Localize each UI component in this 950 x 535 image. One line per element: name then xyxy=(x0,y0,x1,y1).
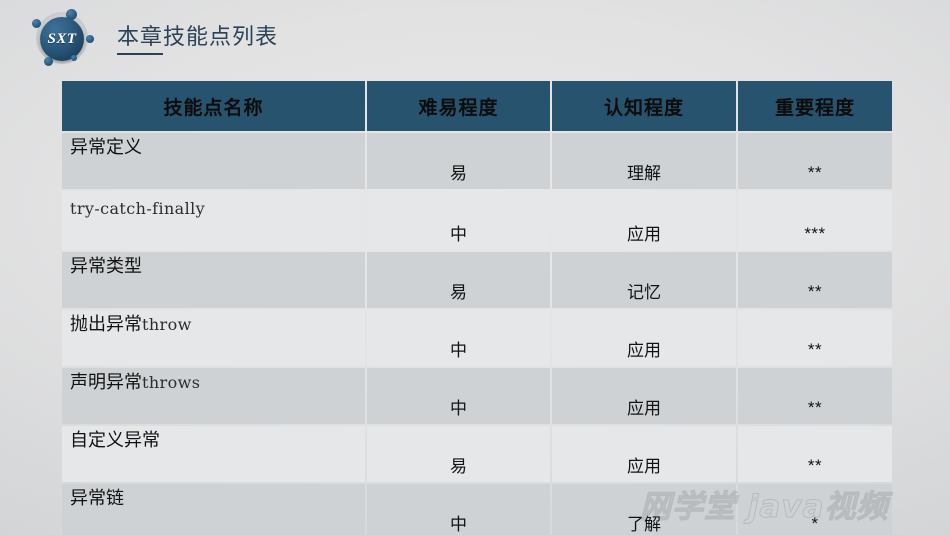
cell-skill-name: 异常定义 xyxy=(62,133,365,189)
cell-skill-name: 异常链 xyxy=(62,484,365,535)
cell-skill-name: 自定义异常 xyxy=(62,426,365,482)
table-body: 异常定义易理解**try-catch-finally中应用***异常类型易记忆*… xyxy=(62,133,892,535)
cell-cognition: 应用 xyxy=(552,191,736,250)
column-header-cognition: 认知程度 xyxy=(552,81,736,131)
cell-difficulty: 中 xyxy=(367,191,550,250)
table-row: 抛出异常throw中应用** xyxy=(62,310,892,366)
cell-importance: ** xyxy=(738,133,892,189)
skills-table-container: 技能点名称 难易程度 认知程度 重要程度 异常定义易理解**try-catch-… xyxy=(60,79,892,535)
column-header-skill-name: 技能点名称 xyxy=(62,81,365,131)
page-title-underlined-part: 本章 xyxy=(117,24,163,55)
cell-skill-name: 声明异常throws xyxy=(62,368,365,424)
skill-name-cjk: 抛出异常 xyxy=(70,314,142,334)
skill-name-cjk: 异常定义 xyxy=(70,137,142,157)
cell-importance: ** xyxy=(738,368,892,424)
logo-dot-right xyxy=(86,35,94,43)
column-header-difficulty: 难易程度 xyxy=(367,81,550,131)
logo-text: SXT xyxy=(40,17,84,61)
cell-importance: * xyxy=(738,484,892,535)
cell-importance: ** xyxy=(738,252,892,308)
page-title: 本章技能点列表 xyxy=(117,26,278,48)
skills-table: 技能点名称 难易程度 认知程度 重要程度 异常定义易理解**try-catch-… xyxy=(60,79,894,535)
table-row: 异常定义易理解** xyxy=(62,133,892,189)
cell-difficulty: 中 xyxy=(367,310,550,366)
cell-skill-name: try-catch-finally xyxy=(62,191,365,250)
slide-header: SXT 本章技能点列表 xyxy=(0,0,950,72)
cell-difficulty: 中 xyxy=(367,484,550,535)
cell-cognition: 应用 xyxy=(552,310,736,366)
cell-cognition: 应用 xyxy=(552,426,736,482)
skill-name-code: throw xyxy=(142,315,192,334)
table-row: 声明异常throws中应用** xyxy=(62,368,892,424)
cell-difficulty: 易 xyxy=(367,426,550,482)
cell-difficulty: 易 xyxy=(367,252,550,308)
skill-name-cjk: 异常类型 xyxy=(70,256,142,276)
logo-dot-bottom-right xyxy=(71,55,77,61)
cell-skill-name: 异常类型 xyxy=(62,252,365,308)
skill-name-cjk: 异常链 xyxy=(70,488,124,508)
cell-importance: ** xyxy=(738,426,892,482)
skill-name-cjk: 声明异常 xyxy=(70,372,142,392)
table-head: 技能点名称 难易程度 认知程度 重要程度 xyxy=(62,81,892,131)
table-row: 自定义异常易应用** xyxy=(62,426,892,482)
cell-importance: ** xyxy=(738,310,892,366)
skill-name-code: throws xyxy=(142,373,200,392)
column-header-importance: 重要程度 xyxy=(738,81,892,131)
cell-cognition: 应用 xyxy=(552,368,736,424)
table-row: 异常链中了解* xyxy=(62,484,892,535)
cell-importance: *** xyxy=(738,191,892,250)
cell-difficulty: 易 xyxy=(367,133,550,189)
cell-cognition: 理解 xyxy=(552,133,736,189)
table-header-row: 技能点名称 难易程度 认知程度 重要程度 xyxy=(62,81,892,131)
table-row: 异常类型易记忆** xyxy=(62,252,892,308)
page-title-rest: 技能点列表 xyxy=(163,24,278,49)
table-row: try-catch-finally中应用*** xyxy=(62,191,892,250)
skill-name-code: try-catch-finally xyxy=(70,199,205,218)
slide: SXT 本章技能点列表 技能点名称 难易程度 认知程度 重要程度 异常定义易理解… xyxy=(0,0,950,535)
cell-cognition: 记忆 xyxy=(552,252,736,308)
cell-difficulty: 中 xyxy=(367,368,550,424)
logo-dot-bottom-left xyxy=(44,57,53,66)
sxt-logo: SXT xyxy=(22,9,114,67)
cell-skill-name: 抛出异常throw xyxy=(62,310,365,366)
cell-cognition: 了解 xyxy=(552,484,736,535)
skill-name-cjk: 自定义异常 xyxy=(70,430,160,450)
